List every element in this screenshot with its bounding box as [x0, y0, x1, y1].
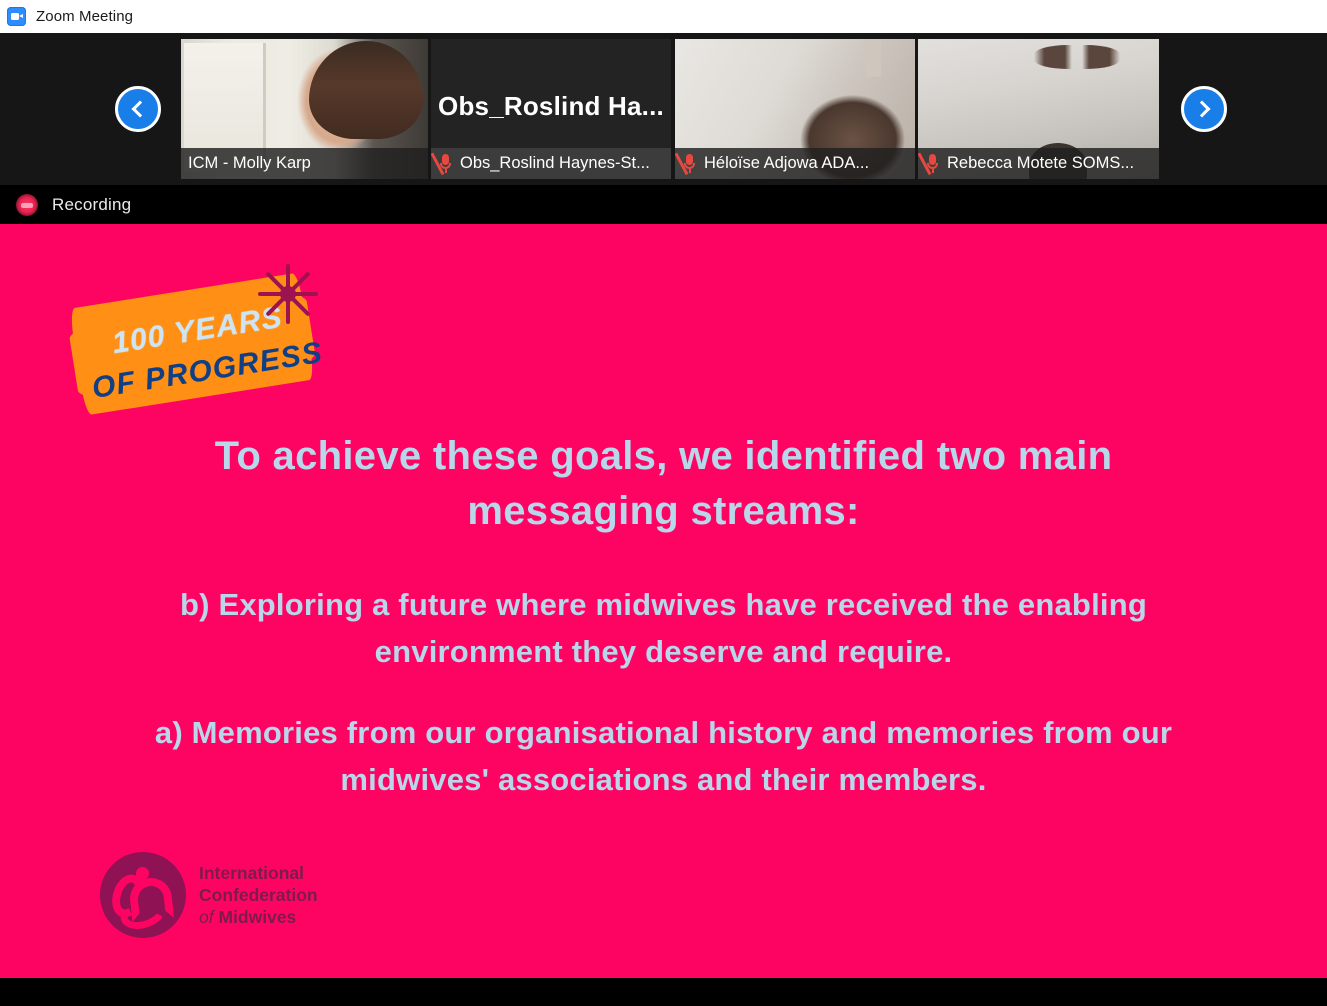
chevron-left-icon — [132, 101, 149, 118]
icm-logo-text: International Confederation of Midwives — [199, 862, 318, 928]
participant-tile[interactable]: Héloïse Adjowa ADA... — [675, 39, 915, 179]
microphone-muted-icon — [438, 153, 453, 174]
recording-indicator-icon[interactable] — [16, 194, 38, 216]
participant-name-text: Héloïse Adjowa ADA... — [704, 154, 869, 173]
participant-filmstrip: ICM - Molly Karp Obs_Roslind Ha... Obs_R… — [0, 33, 1327, 185]
slide-paragraph-b: b) Exploring a future where midwives hav… — [110, 582, 1217, 675]
chevron-right-icon — [1194, 101, 1211, 118]
participant-name-label: Rebecca Motete SOMS... — [918, 148, 1159, 179]
recording-status-bar: Recording — [0, 185, 1327, 224]
icm-logo-line-3: of Midwives — [199, 906, 318, 928]
recording-label: Recording — [52, 195, 131, 215]
slide-paragraph-a: a) Memories from our organisational hist… — [110, 710, 1217, 803]
filmstrip-next-button[interactable] — [1181, 86, 1227, 132]
shared-screen-slide: 100 YEARS OF PROGRESS To achieve these g… — [0, 224, 1327, 978]
participant-name-label: ICM - Molly Karp — [181, 148, 428, 179]
participant-name-text: Obs_Roslind Haynes-St... — [460, 154, 650, 173]
icm-logo: International Confederation of Midwives — [100, 852, 318, 938]
filmstrip-prev-button[interactable] — [115, 86, 161, 132]
icm-logo-line-2: Confederation — [199, 884, 318, 906]
participant-name-text: ICM - Molly Karp — [188, 154, 311, 173]
microphone-muted-icon — [925, 153, 940, 174]
microphone-muted-icon — [682, 153, 697, 174]
starburst-icon — [256, 262, 320, 326]
participant-tile[interactable]: Obs_Roslind Ha... Obs_Roslind Haynes-St.… — [431, 39, 671, 179]
participant-name-text: Rebecca Motete SOMS... — [947, 154, 1134, 173]
anniversary-badge: 100 YEARS OF PROGRESS — [66, 262, 321, 417]
window-title: Zoom Meeting — [36, 8, 133, 25]
participant-tile[interactable]: Rebecca Motete SOMS... — [918, 39, 1159, 179]
participant-tile-active-speaker[interactable]: ICM - Molly Karp — [181, 39, 428, 179]
zoom-video-icon — [7, 7, 26, 26]
participant-name-label: Obs_Roslind Haynes-St... — [431, 148, 671, 179]
icm-logo-line-1: International — [199, 862, 318, 884]
zoom-meeting-window: Zoom Meeting ICM - Molly Karp Obs_Roslin… — [0, 0, 1327, 1006]
icm-logo-line-3-rest: Midwives — [218, 907, 296, 927]
slide-heading: To achieve these goals, we identified tw… — [110, 429, 1217, 539]
icm-logo-line-3-italic: of — [199, 907, 214, 927]
window-title-bar: Zoom Meeting — [0, 0, 1327, 33]
participant-center-name: Obs_Roslind Ha... — [431, 91, 671, 122]
icm-logo-icon — [100, 852, 186, 938]
bottom-bar — [0, 978, 1327, 1006]
participant-name-label: Héloïse Adjowa ADA... — [675, 148, 915, 179]
